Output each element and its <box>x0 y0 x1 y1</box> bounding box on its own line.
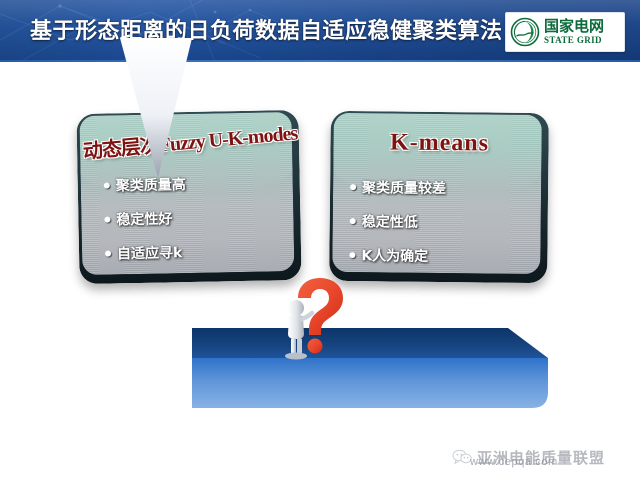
list-item: 稳定性好 <box>104 206 284 229</box>
list-item: 自适应寻k <box>105 240 285 263</box>
bullet-dot-icon <box>104 183 110 189</box>
bullet-label: 稳定性好 <box>116 208 172 229</box>
state-grid-logo: 国家电网 STATE GRID <box>505 12 625 52</box>
bullet-label: 稳定性低 <box>362 211 418 232</box>
list-item: 聚类质量较差 <box>350 177 532 199</box>
blue-platform <box>190 322 550 432</box>
question-mark-graphic <box>276 276 348 362</box>
watermark-url: www.cepqa.com <box>470 456 640 472</box>
bullet-dot-icon <box>349 252 355 258</box>
logo-en-text: STATE GRID <box>544 36 604 45</box>
bullet-dot-icon <box>350 218 356 224</box>
panel-bullet-list-right: 聚类质量较差 稳定性低 K人为确定 <box>349 177 532 281</box>
white-wedge-icon <box>96 38 216 178</box>
bullet-label: 聚类质量较差 <box>362 177 446 198</box>
bullet-label: 自适应寻k <box>117 242 183 263</box>
logo-text-block: 国家电网 STATE GRID <box>544 19 604 45</box>
panel-bullet-list-left: 聚类质量高 稳定性好 自适应寻k <box>104 172 286 277</box>
comparison-panel-right: K-means 聚类质量较差 稳定性低 K人为确定 <box>329 111 549 283</box>
bullet-dot-icon <box>104 217 110 223</box>
bullet-dot-icon <box>105 251 111 257</box>
panel-title-right: K-means <box>330 129 548 158</box>
person-figure-icon <box>285 300 312 360</box>
state-grid-emblem-icon <box>510 17 540 47</box>
bullet-dot-icon <box>350 184 356 190</box>
list-item: 稳定性低 <box>350 211 532 233</box>
bullet-label: K人为确定 <box>361 245 428 266</box>
logo-cn-text: 国家电网 <box>544 19 604 34</box>
slide-canvas: 基于形态距离的日负荷数据自适应稳健聚类算法 国家电网 STATE GRID 动态… <box>0 0 640 480</box>
list-item: K人为确定 <box>349 245 531 267</box>
wechat-icon <box>452 449 472 465</box>
